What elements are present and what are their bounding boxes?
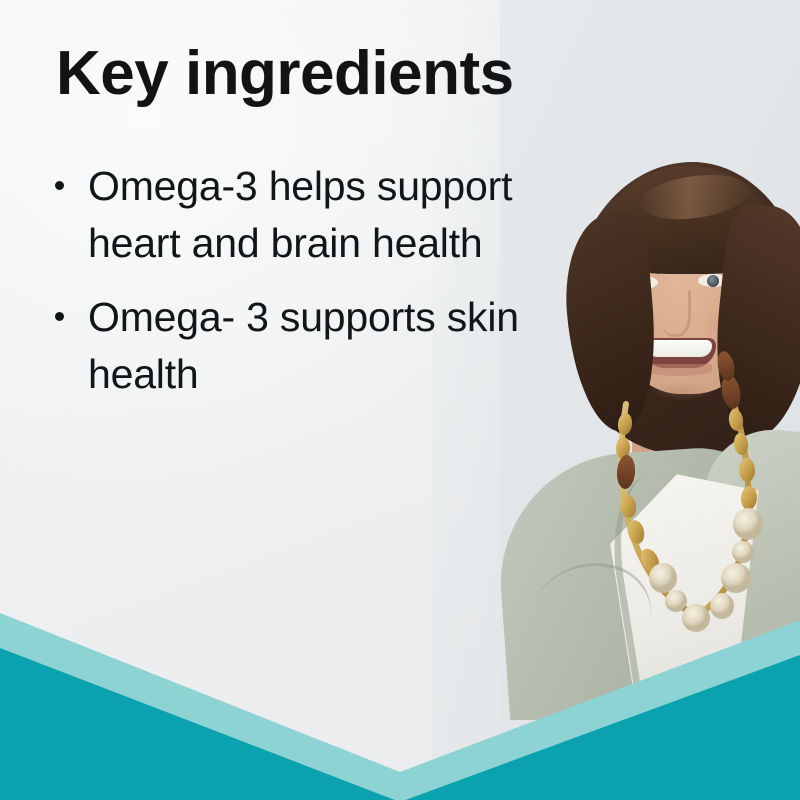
teeth xyxy=(646,340,712,357)
teal-chevron-footer xyxy=(0,580,800,800)
list-item-label: Omega-3 helps support heart and brain he… xyxy=(88,163,512,266)
list-item: Omega- 3 supports skin health xyxy=(48,289,608,402)
iris-right xyxy=(707,275,719,287)
list-item: Omega-3 helps support heart and brain he… xyxy=(48,158,608,271)
key-ingredients-list: Omega-3 helps support heart and brain he… xyxy=(48,158,608,420)
marketing-slide: Key ingredients Omega-3 helps support he… xyxy=(0,0,800,800)
bullet-dot-icon xyxy=(55,312,64,321)
lower-lip xyxy=(646,364,712,376)
page-title: Key ingredients xyxy=(56,42,514,106)
nose xyxy=(662,290,691,337)
list-item-label: Omega- 3 supports skin health xyxy=(88,294,519,397)
chin-shadow xyxy=(650,382,714,400)
bullet-dot-icon xyxy=(55,181,64,190)
